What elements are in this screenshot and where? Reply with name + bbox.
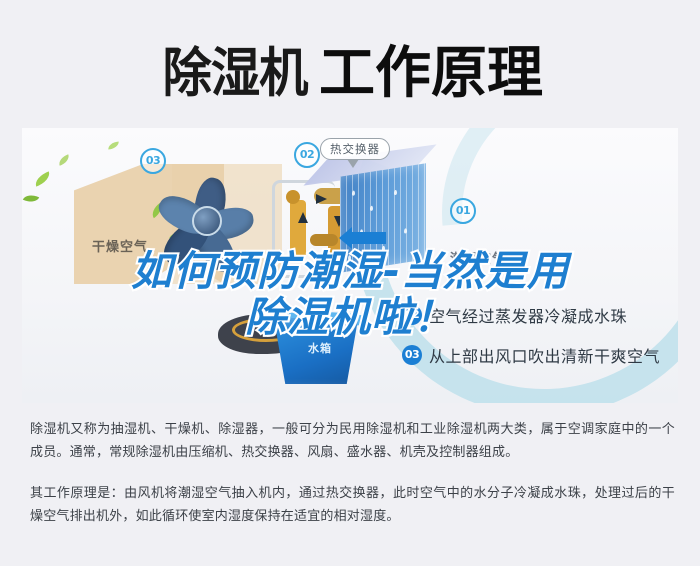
page-root: 除湿机工作原理 干燥空气 [0, 0, 700, 566]
humid-air-inlet-arrow-icon [352, 232, 386, 244]
dry-air-label: 干燥空气 [92, 236, 148, 255]
copper-coil [290, 200, 306, 258]
copper-coil [286, 190, 300, 204]
leaf-icon [33, 171, 52, 186]
flow-arrow-up-icon [298, 212, 308, 223]
flow-arrow-right-icon [316, 194, 327, 204]
caption-text-03: 从上部出风口吹出清新干爽空气 [429, 343, 660, 367]
body-paragraph-1: 除湿机又称为抽湿机、干燥机、除湿器，一般可分为民用除湿机和工业除湿机两大类，属于… [30, 418, 675, 464]
humid-air-label: 潮湿空气 [450, 248, 506, 267]
heat-exchanger-block [340, 163, 426, 273]
page-title: 除湿机工作原理 [0, 28, 700, 109]
leaf-icon [23, 191, 39, 205]
leaf-icon [108, 142, 120, 150]
copper-coil [310, 234, 338, 246]
fan-hub [192, 206, 222, 236]
fan-illustration [150, 166, 272, 278]
page-title-part-a: 除湿机 [162, 31, 307, 107]
caption-text-02: 空气经过蒸发器冷凝成水珠 [429, 303, 627, 327]
caption-badge-03: 03 [402, 345, 422, 365]
step-marker-02: 02 [294, 142, 320, 168]
water-tank-label: 水箱 [308, 340, 332, 356]
heat-exchanger-callout: 热交换器 [320, 138, 390, 160]
page-title-part-b: 工作原理 [319, 28, 543, 109]
article-body: 除湿机又称为抽湿机、干燥机、除湿器，一般可分为民用除湿机和工业除湿机两大类，属于… [30, 418, 675, 528]
body-paragraph-2: 其工作原理是：由风机将潮湿空气抽入机内，通过热交换器，此时空气中的水分子冷凝成水… [30, 482, 675, 528]
caption-badge-02: 02 [402, 305, 422, 325]
step-marker-03: 03 [140, 148, 166, 174]
diagram-caption-02: 02 空气经过蒸发器冷凝成水珠 [402, 303, 627, 327]
heat-exchanger-fins [340, 163, 426, 273]
step-marker-01: 01 [450, 198, 476, 224]
dehumidifier-diagram: 干燥空气 [22, 128, 678, 403]
leaf-icon [57, 154, 71, 166]
diagram-caption-03: 03 从上部出风口吹出清新干爽空气 [402, 343, 660, 367]
